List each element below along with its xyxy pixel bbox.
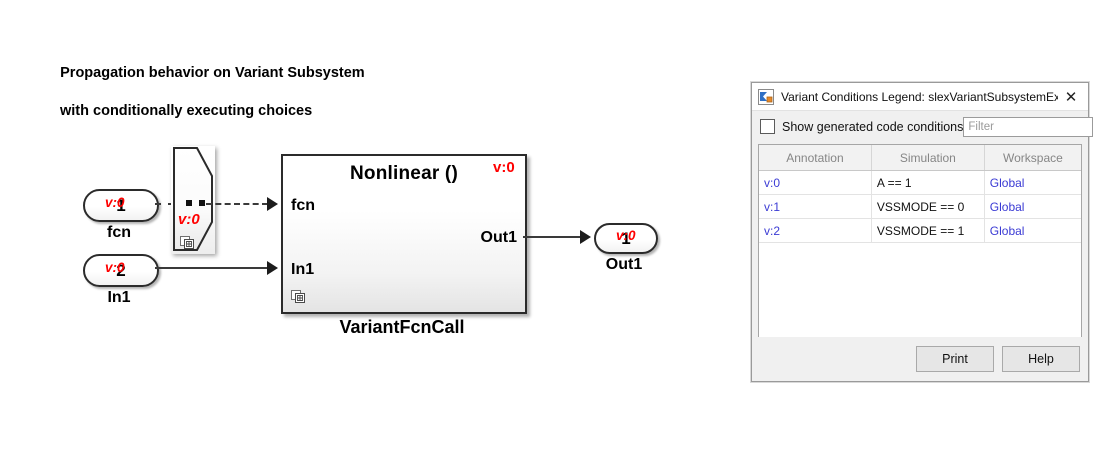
subsystem-caption: VariantFcnCall: [281, 317, 523, 338]
dialog-button-bar: Print Help: [752, 337, 1088, 381]
table-row[interactable]: v:0 A == 1 Global: [759, 171, 1081, 195]
legend-table: Annotation Simulation Workspace v:0 A ==…: [759, 145, 1081, 243]
subsystem-variant-tag: v:0: [493, 160, 515, 175]
cell-simulation: A == 1: [871, 171, 984, 195]
arrow-subsystem-fcn-in: [267, 197, 278, 211]
wire-in1-to-subsystem: [155, 267, 268, 269]
cell-annotation[interactable]: v:0: [759, 171, 871, 195]
variant-port-dot-2: [199, 200, 205, 206]
column-header-workspace[interactable]: Workspace: [984, 145, 1081, 171]
variant-conditions-legend-dialog: Variant Conditions Legend: slexVariantSu…: [751, 82, 1089, 382]
wire-variant-to-subsystem: [206, 203, 268, 205]
help-button[interactable]: Help: [1002, 346, 1080, 372]
variant-subsystem-block[interactable]: Nonlinear () fcn In1 Out1: [281, 154, 527, 314]
variant-source-tag: v:0: [178, 212, 200, 227]
show-generated-code-conditions-label: Show generated code conditions: [782, 120, 963, 134]
table-header-row: Annotation Simulation Workspace: [759, 145, 1081, 171]
column-header-annotation[interactable]: Annotation: [759, 145, 871, 171]
column-header-simulation[interactable]: Simulation: [871, 145, 984, 171]
variant-mask-icon: [180, 236, 195, 250]
outport-out1-label: Out1: [594, 256, 654, 274]
cell-annotation[interactable]: v:2: [759, 219, 871, 243]
legend-table-container[interactable]: Annotation Simulation Workspace v:0 A ==…: [758, 144, 1082, 353]
dialog-titlebar[interactable]: Variant Conditions Legend: slexVariantSu…: [752, 83, 1088, 111]
subsystem-inport-label-in1: In1: [291, 261, 314, 279]
close-icon[interactable]: ✕: [1058, 86, 1084, 108]
annotation-line-2: with conditionally executing choices: [44, 102, 404, 121]
subsystem-mask-icon: [291, 290, 306, 304]
filter-input[interactable]: [963, 117, 1093, 137]
table-row[interactable]: v:1 VSSMODE == 0 Global: [759, 195, 1081, 219]
variant-port-dot-1: [186, 200, 192, 206]
show-generated-code-conditions-checkbox[interactable]: [760, 119, 775, 134]
subsystem-title: Nonlinear (): [283, 163, 525, 185]
subsystem-outport-label-out1: Out1: [481, 229, 517, 247]
dialog-title: Variant Conditions Legend: slexVariantSu…: [781, 90, 1058, 104]
cell-workspace[interactable]: Global: [984, 171, 1081, 195]
inport-fcn-label: fcn: [83, 224, 155, 242]
variant-legend-icon: [758, 89, 774, 105]
cell-simulation: VSSMODE == 0: [871, 195, 984, 219]
cell-annotation[interactable]: v:1: [759, 195, 871, 219]
annotation-line-1: Propagation behavior on Variant Subsyste…: [60, 65, 365, 81]
inport-in1-label: In1: [83, 289, 155, 307]
outport-out1-variant-tag: v:0: [616, 229, 636, 243]
dialog-options-row: Show generated code conditions: [752, 111, 1088, 142]
cell-workspace[interactable]: Global: [984, 195, 1081, 219]
arrow-subsystem-in1: [267, 261, 278, 275]
print-button[interactable]: Print: [916, 346, 994, 372]
arrow-outport-in: [580, 230, 591, 244]
table-row[interactable]: v:2 VSSMODE == 1 Global: [759, 219, 1081, 243]
inport-in1-variant-tag: v:0: [105, 261, 125, 275]
cell-workspace[interactable]: Global: [984, 219, 1081, 243]
simulink-canvas: Propagation behavior on Variant Subsyste…: [0, 0, 740, 464]
wire-subsystem-to-outport: [523, 236, 582, 238]
inport-fcn-variant-tag: v:0: [105, 196, 125, 210]
subsystem-inport-label-fcn: fcn: [291, 197, 315, 215]
cell-simulation: VSSMODE == 1: [871, 219, 984, 243]
diagram-annotation: Propagation behavior on Variant Subsyste…: [44, 45, 404, 159]
